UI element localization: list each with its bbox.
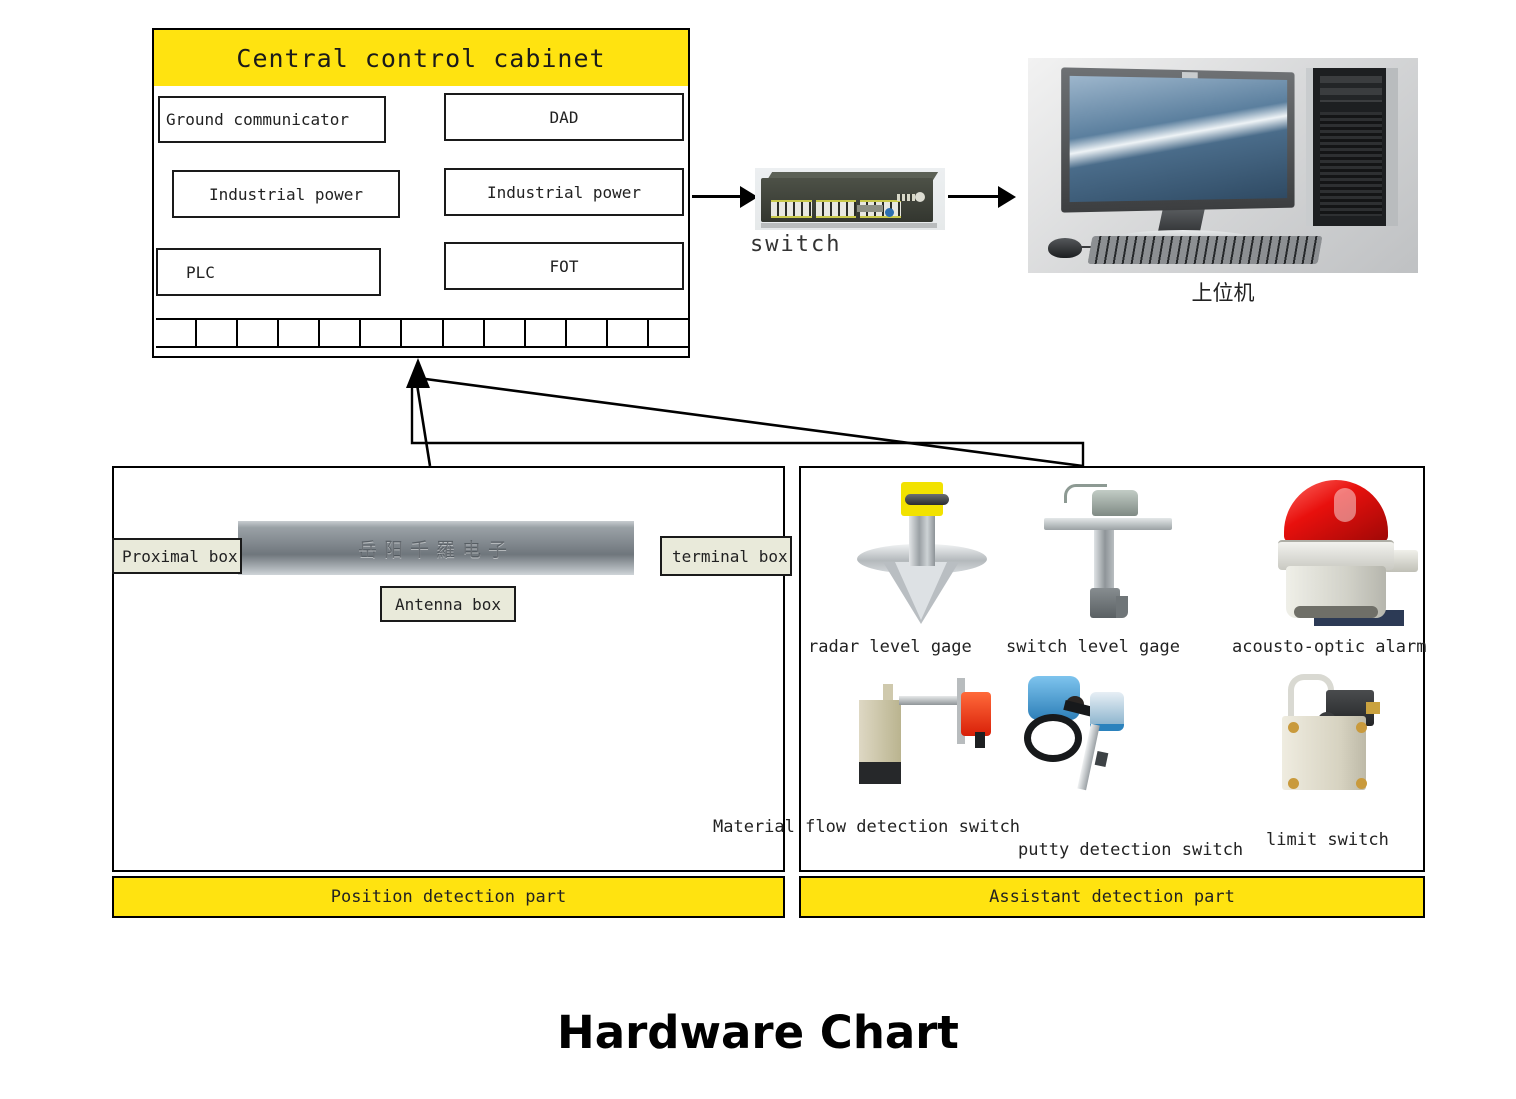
alarm-dome-highlight — [1334, 488, 1356, 522]
limit-switch-screw — [1356, 722, 1367, 733]
limit-switch-terminal-block — [1366, 702, 1380, 714]
cabinet-slot — [197, 320, 238, 346]
rail-engraving-text: 岳阳千羅电子 — [358, 535, 514, 562]
cabinet-slot — [608, 320, 649, 346]
alarm-red-dome — [1284, 480, 1388, 542]
cabinet-slot — [156, 320, 197, 346]
computer-tower — [1306, 68, 1398, 226]
radar-level-gage-caption: radar level gage — [808, 637, 972, 657]
module-label: Industrial power — [209, 185, 363, 204]
module-label: PLC — [186, 263, 215, 282]
module-industrial-power-left: Industrial power — [172, 170, 400, 218]
material-flow-detection-switch-caption: Material flow detection switch — [713, 817, 1020, 837]
putty-detection-switch-image — [1008, 670, 1158, 810]
module-label: DAD — [550, 108, 579, 127]
tower-drive-bays — [1320, 76, 1382, 102]
cabinet-slot — [444, 320, 485, 346]
putty-switch-cable-loop — [1024, 714, 1082, 762]
switch-shadow — [761, 223, 937, 228]
module-label: Ground communicator — [166, 110, 349, 129]
switch-caption: switch — [750, 232, 841, 257]
cabinet-slot — [526, 320, 567, 346]
switch-level-gage-image — [1030, 478, 1186, 630]
arrow-switch-to-host-line — [948, 195, 1000, 198]
antenna-rail-image: 岳阳千羅电子 — [238, 521, 634, 575]
position-detection-bar-label: Position detection part — [331, 887, 566, 907]
connector-diagonal-right — [418, 378, 1083, 466]
module-label: Industrial power — [487, 183, 641, 202]
flow-switch-rod — [899, 696, 961, 705]
proximal-box-tag: Proximal box — [112, 538, 242, 574]
switch-level-gage-caption: switch level gage — [1006, 637, 1180, 657]
position-detection-bar: Position detection part — [112, 876, 785, 918]
cabinet-slot — [567, 320, 608, 346]
cabinet-header: Central control cabinet — [154, 30, 688, 86]
arrow-cabinet-to-switch-line — [692, 195, 742, 198]
cabinet-slot — [361, 320, 402, 346]
acousto-optic-alarm-caption: acousto-optic alarm — [1232, 637, 1426, 657]
limit-switch-screw — [1356, 778, 1367, 789]
cabinet-slot — [279, 320, 320, 346]
switch-chassis — [761, 178, 933, 222]
switch-level-flange-plate — [1044, 518, 1172, 530]
connector-detection-to-cabinet — [0, 350, 1516, 480]
network-switch-image — [755, 168, 945, 230]
mouse — [1048, 238, 1082, 258]
radar-connector — [905, 494, 949, 505]
switch-level-arm — [1116, 596, 1128, 618]
central-control-cabinet: Central control cabinet Ground communica… — [152, 28, 690, 358]
material-flow-detection-switch-image — [853, 670, 1003, 810]
limit-switch-caption: limit switch — [1266, 830, 1389, 850]
limit-switch-image — [1262, 668, 1412, 810]
antenna-box-tag: Antenna box — [380, 586, 516, 622]
acousto-optic-alarm-image — [1252, 478, 1422, 630]
terminal-box-label: terminal box — [672, 547, 788, 566]
page-title: Hardware Chart — [0, 1006, 1516, 1059]
cabinet-slot — [402, 320, 443, 346]
radar-level-gage-image — [843, 478, 999, 630]
limit-switch-screw — [1288, 722, 1299, 733]
cabinet-title: Central control cabinet — [236, 44, 605, 73]
switch-level-head — [1092, 490, 1138, 516]
switch-port-bank — [771, 200, 812, 218]
radar-horn-inner — [895, 562, 947, 620]
cabinet-slot-row — [156, 318, 688, 348]
host-computer-image — [1028, 58, 1418, 273]
module-plc: PLC — [156, 248, 381, 296]
switch-logo-badge — [915, 192, 925, 202]
terminal-box-tag: terminal box — [660, 536, 792, 576]
flow-switch-red-head — [961, 692, 991, 736]
module-industrial-power-right: Industrial power — [444, 168, 684, 216]
module-dad: DAD — [444, 93, 684, 141]
flow-switch-cable — [975, 732, 985, 748]
putty-detection-switch-caption: putty detection switch — [1018, 840, 1243, 860]
module-label: FOT — [550, 257, 579, 276]
cabinet-slot — [238, 320, 279, 346]
monitor-bezel — [1061, 67, 1294, 212]
connector-diagonal-left — [416, 378, 430, 466]
limit-switch-screw — [1288, 778, 1299, 789]
arrow-switch-to-host-head — [998, 186, 1016, 208]
cabinet-slot — [485, 320, 526, 346]
switch-sfp-slot — [857, 205, 883, 212]
assistant-detection-bar: Assistant detection part — [799, 876, 1425, 918]
monitor-screen — [1070, 76, 1288, 202]
module-fot: FOT — [444, 242, 684, 290]
module-ground-communicator: Ground communicator — [158, 96, 386, 143]
switch-indicator-led — [885, 208, 894, 217]
cabinet-slot — [649, 320, 688, 346]
alarm-sounder-vent — [1294, 606, 1378, 618]
proximal-box-label: Proximal box — [122, 547, 238, 566]
switch-port-bank — [816, 200, 857, 218]
keyboard — [1088, 236, 1323, 264]
tower-front-grill — [1320, 112, 1382, 216]
antenna-box-label: Antenna box — [395, 595, 501, 614]
host-computer-caption: 上位机 — [1028, 277, 1418, 307]
cabinet-slot — [320, 320, 361, 346]
putty-switch-probe-band — [1095, 751, 1109, 767]
radar-stem — [909, 514, 935, 566]
flow-switch-base — [859, 762, 901, 784]
assistant-detection-bar-label: Assistant detection part — [989, 887, 1235, 907]
